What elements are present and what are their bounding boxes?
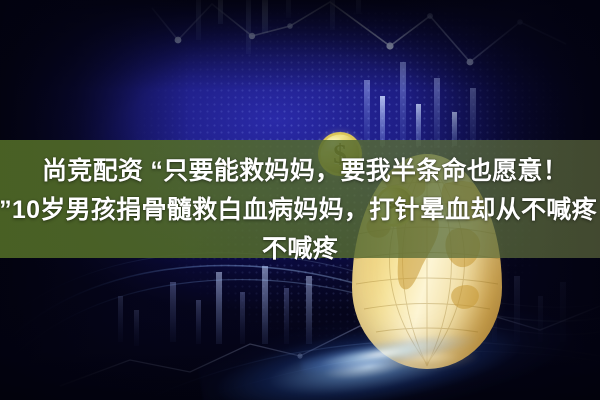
poster-canvas: $ $ 尚竞配资 “只要能救妈妈，要我半条命也愿意！ ”10岁男孩捐骨髓救白血病… <box>0 0 600 400</box>
caption-line-3: 不喊疼 <box>0 230 600 269</box>
caption-text-block: 尚竞配资 “只要能救妈妈，要我半条命也愿意！ ”10岁男孩捐骨髓救白血病妈妈，打… <box>0 152 600 269</box>
caption-line-2: ”10岁男孩捐骨髓救白血病妈妈，打针晕血却从不喊疼 <box>0 191 600 230</box>
caption-line-1: 尚竞配资 “只要能救妈妈，要我半条命也愿意！ <box>10 152 600 191</box>
